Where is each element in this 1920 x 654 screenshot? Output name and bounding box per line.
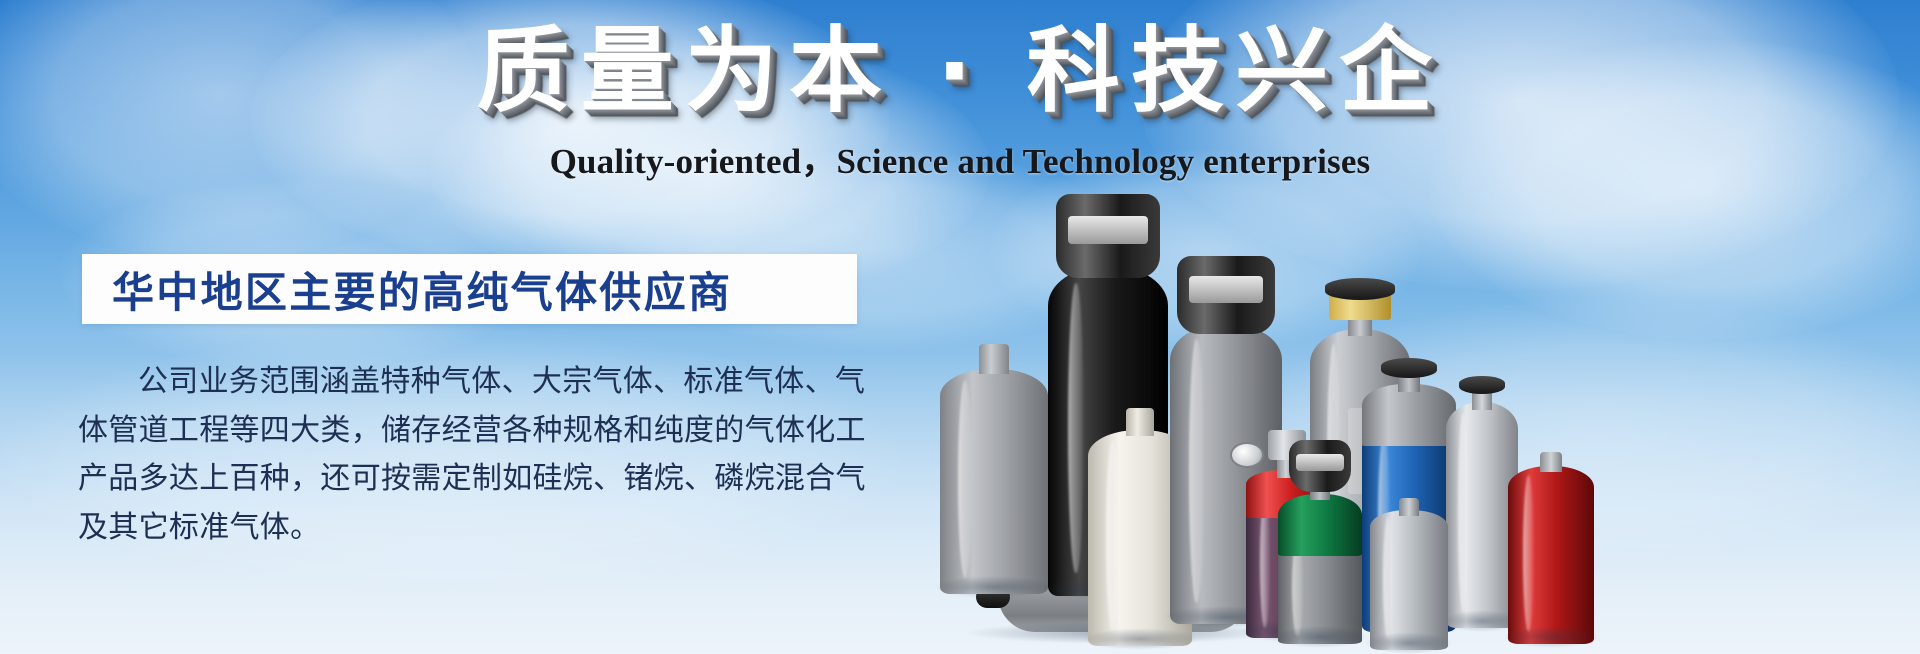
cylinder-neck xyxy=(1399,498,1419,516)
regulator-body xyxy=(1268,430,1306,460)
cylinder-body xyxy=(1088,430,1192,646)
description-paragraph: 公司业务范围涵盖特种气体、大宗气体、标准气体、气体管道工程等四大类，储存经营各种… xyxy=(78,358,868,552)
cylinder-black-tall xyxy=(1048,196,1168,596)
cylinder-shadow xyxy=(1041,578,1175,600)
cylinder-neck xyxy=(1126,408,1154,436)
cylinder-neck xyxy=(979,344,1009,374)
cylinder-cap xyxy=(1177,256,1275,334)
cylinder-body xyxy=(1048,266,1168,596)
cylinder-aluminium-short xyxy=(1370,490,1448,650)
cylinder-shadow xyxy=(934,576,1055,598)
cylinder-shadow xyxy=(1304,596,1416,618)
callout-text: 华中地区主要的高纯气体供应商 xyxy=(82,259,732,320)
cylinder-shadow xyxy=(1273,626,1367,648)
marketing-banner: 质量为本 · 科技兴企 Quality-oriented，Science and… xyxy=(0,0,1920,654)
cylinder-body xyxy=(1170,324,1282,624)
cylinder-green-small xyxy=(1278,439,1362,644)
cylinder-red-small xyxy=(1246,423,1326,638)
cylinder-grey-tall-left xyxy=(940,344,1048,594)
cylinder-neck xyxy=(1310,480,1330,500)
valve-handwheel xyxy=(1459,376,1505,394)
cylinder-body xyxy=(1310,329,1410,614)
valve-handwheel xyxy=(1325,278,1395,300)
cylinder-upper-red xyxy=(1246,470,1326,518)
cylinder-horizontal-grey xyxy=(980,550,1260,640)
cylinder-upper-green xyxy=(1278,494,1362,556)
cylinder-shadow xyxy=(1365,632,1452,654)
cylinder-aluminium-slim xyxy=(1446,370,1518,628)
description-text: 公司业务范围涵盖特种气体、大宗气体、标准气体、气体管道工程等四大类，储存经营各种… xyxy=(78,358,868,552)
cylinder-shadow xyxy=(1082,628,1198,650)
cylinder-shadow xyxy=(1442,610,1523,632)
cylinder-cap xyxy=(1056,194,1160,278)
cloud-decoration xyxy=(1250,300,1920,560)
cylinder-dark-red xyxy=(1508,444,1594,644)
cylinder-body xyxy=(1508,466,1594,644)
cylinder-white-cream xyxy=(1088,406,1192,646)
cylinder-grey-capped xyxy=(1170,256,1282,624)
cylinder-shadow xyxy=(1163,606,1288,628)
callout-box: 华中地区主要的高纯气体供应商 xyxy=(82,254,857,324)
cylinder-body xyxy=(1278,532,1362,644)
banner-headline: 质量为本 · 科技兴企 xyxy=(0,22,1920,121)
tank-body xyxy=(998,558,1248,632)
cylinder-neck xyxy=(1398,372,1420,392)
banner-subtitle-english: Quality-oriented，Science and Technology … xyxy=(0,133,1920,184)
tank-shadow xyxy=(963,622,1277,644)
cylinder-shadow xyxy=(1503,626,1599,648)
cylinder-body xyxy=(1446,402,1518,628)
cylinder-label xyxy=(1348,408,1372,494)
cylinder-shadow xyxy=(1241,620,1331,642)
cylinder-neck xyxy=(1277,456,1295,478)
valve-handwheel xyxy=(1381,358,1437,378)
cylinder-body xyxy=(940,369,1048,594)
cylinder-neck xyxy=(1348,314,1372,336)
cylinder-neck xyxy=(1472,388,1492,410)
cylinder-body xyxy=(1246,490,1326,638)
cylinder-steel-brass-valve xyxy=(1310,269,1410,614)
cylinder-shadow xyxy=(1356,614,1461,636)
cylinder-blue-tall xyxy=(1362,342,1456,632)
tank-valve xyxy=(976,586,1010,608)
cylinder-body xyxy=(1370,510,1448,650)
cylinder-shoulder-steel xyxy=(1362,384,1456,446)
cylinder-body xyxy=(1362,422,1456,632)
pressure-gauge xyxy=(1230,442,1264,468)
cylinder-neck xyxy=(1540,452,1562,472)
brass-valve xyxy=(1329,294,1391,320)
cylinder-cap xyxy=(1289,440,1351,492)
